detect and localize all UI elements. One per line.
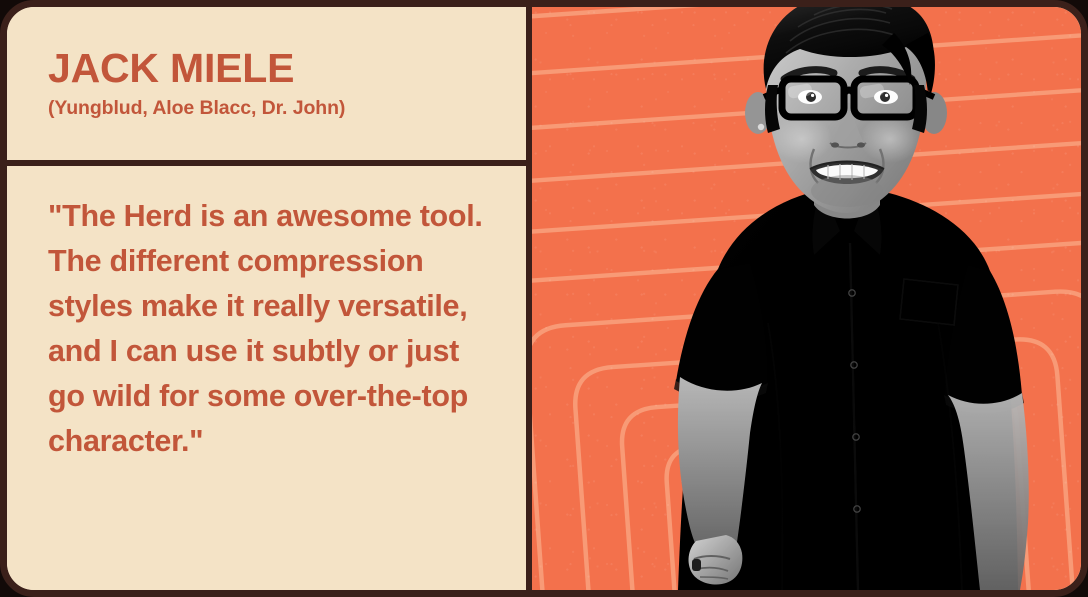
testimonial-card: JACK MIELE (Yungblud, Aloe Blacc, Dr. Jo… [0,0,1088,597]
artist-credits: (Yungblud, Aloe Blacc, Dr. John) [48,97,526,120]
artist-portrait [618,7,1048,590]
quote-section: "The Herd is an awesome tool. The differ… [7,166,526,590]
avatar [618,7,1048,590]
portrait-panel [532,7,1081,590]
text-column: JACK MIELE (Yungblud, Aloe Blacc, Dr. Jo… [7,7,532,590]
artist-header: JACK MIELE (Yungblud, Aloe Blacc, Dr. Jo… [7,7,526,166]
page-title: JACK MIELE [48,46,526,90]
testimonial-quote: "The Herd is an awesome tool. The differ… [48,194,492,464]
